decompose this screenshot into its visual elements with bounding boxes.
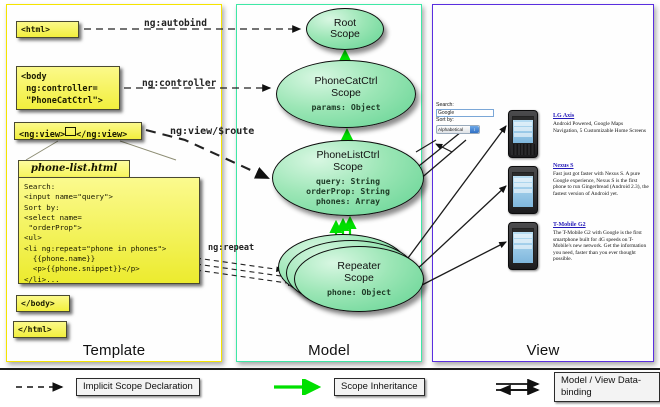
file-note-title: phone-list.html [18, 160, 130, 178]
label-ng-controller: ng:controller [142, 78, 216, 89]
scope-phonecatctrl: PhoneCatCtrl Scope params: Object [276, 60, 416, 128]
legend-item-implicit: Implicit Scope Declaration [14, 378, 200, 396]
scope-phonecatctrl-title: PhoneCatCtrl Scope [314, 76, 377, 99]
legend: Implicit Scope Declaration Scope Inherit… [0, 368, 660, 407]
chevron-updown-icon: ↕ [470, 126, 479, 133]
phone-name-link[interactable]: LG Axis [553, 113, 649, 119]
file-note-code: Search: <input name="query"> Sort by: <s… [18, 177, 200, 284]
phone-screen [512, 172, 534, 208]
phone-snippet: The T-Mobile G2 with Google is the first… [553, 230, 649, 263]
scope-root-title: Root Scope [330, 18, 360, 41]
search-label: Search: [436, 102, 500, 109]
legend-implicit-label: Implicit Scope Declaration [76, 378, 200, 396]
legend-item-inheritance: Scope Inheritance [272, 378, 425, 396]
diagram-canvas: Template Model View [0, 0, 660, 405]
code-tag-body-close: </body> [16, 295, 70, 312]
code-tag-html: <html> [16, 21, 79, 38]
phone-keyboard [511, 144, 535, 155]
phone-screen [512, 228, 534, 264]
legend-inheritance-label: Scope Inheritance [334, 378, 425, 396]
scope-root: Root Scope [306, 8, 384, 50]
phone-name-link[interactable]: T-Mobile G2 [553, 222, 649, 228]
phone-image-nexus-s [508, 166, 538, 214]
panel-view-label: View [433, 342, 653, 359]
phone-screen [512, 116, 534, 144]
label-ng-autobind: ng:autobind [144, 18, 207, 29]
ngview-placeholder-icon [65, 127, 76, 136]
ngview-close-text: </ng:view> [76, 130, 127, 140]
phone-image-t-mobile-g2 [508, 222, 538, 270]
scope-phonecatctrl-props: params: Object [311, 102, 380, 112]
sort-select[interactable]: Alphabetical ↕ [436, 125, 480, 134]
sort-label: Sort by: [436, 117, 500, 124]
scope-repeater-props: phone: Object [327, 287, 391, 297]
legend-green-arrow-icon [272, 379, 328, 395]
scope-phonelistctrl: PhoneListCtrl Scope query: String orderP… [272, 140, 424, 216]
code-tag-ngview: <ng:view></ng:view> [14, 122, 142, 140]
search-form: Search: Sort by: Alphabetical ↕ [436, 102, 500, 144]
legend-databinding-label: Model / View Data-binding [554, 372, 660, 402]
phone-list-file-note: phone-list.html Search: <input name="que… [18, 160, 200, 284]
phone-list-item: T-Mobile G2 The T-Mobile G2 with Google … [553, 222, 649, 263]
scope-repeater-title: Repeater Scope [337, 261, 380, 284]
code-tag-body: <body ng:controller= "PhoneCatCtrl"> [16, 66, 120, 110]
label-ng-repeat: ng:repeat [208, 243, 254, 253]
scope-phonelistctrl-props: query: String orderProp: String phones: … [306, 176, 390, 206]
code-tag-html-close: </html> [13, 321, 67, 338]
search-input[interactable] [436, 109, 494, 117]
phone-list-item: LG Axis Android Powered, Google Maps Nav… [553, 113, 649, 134]
legend-item-databinding: Model / View Data-binding [492, 378, 660, 396]
legend-dashed-arrow-icon [14, 379, 70, 395]
phone-snippet: Android Powered, Google Maps Navigation,… [553, 121, 649, 134]
ngview-open-text: <ng:view> [19, 130, 65, 140]
scope-repeater: Repeater Scope phone: Object [294, 246, 424, 312]
panel-template-label: Template [7, 342, 221, 359]
legend-bidirectional-arrow-icon [492, 379, 548, 395]
scope-phonelistctrl-title: PhoneListCtrl Scope [316, 150, 379, 173]
sort-select-value: Alphabetical [438, 127, 463, 132]
phone-snippet: Fast just got faster with Nexus S. A pur… [553, 171, 649, 197]
phone-list-item: Nexus S Fast just got faster with Nexus … [553, 163, 649, 197]
panel-model-label: Model [237, 342, 421, 359]
phone-image-lg-axis [508, 110, 538, 158]
label-ng-view-route: ng:view/$route [170, 126, 254, 137]
phone-name-link[interactable]: Nexus S [553, 163, 649, 169]
